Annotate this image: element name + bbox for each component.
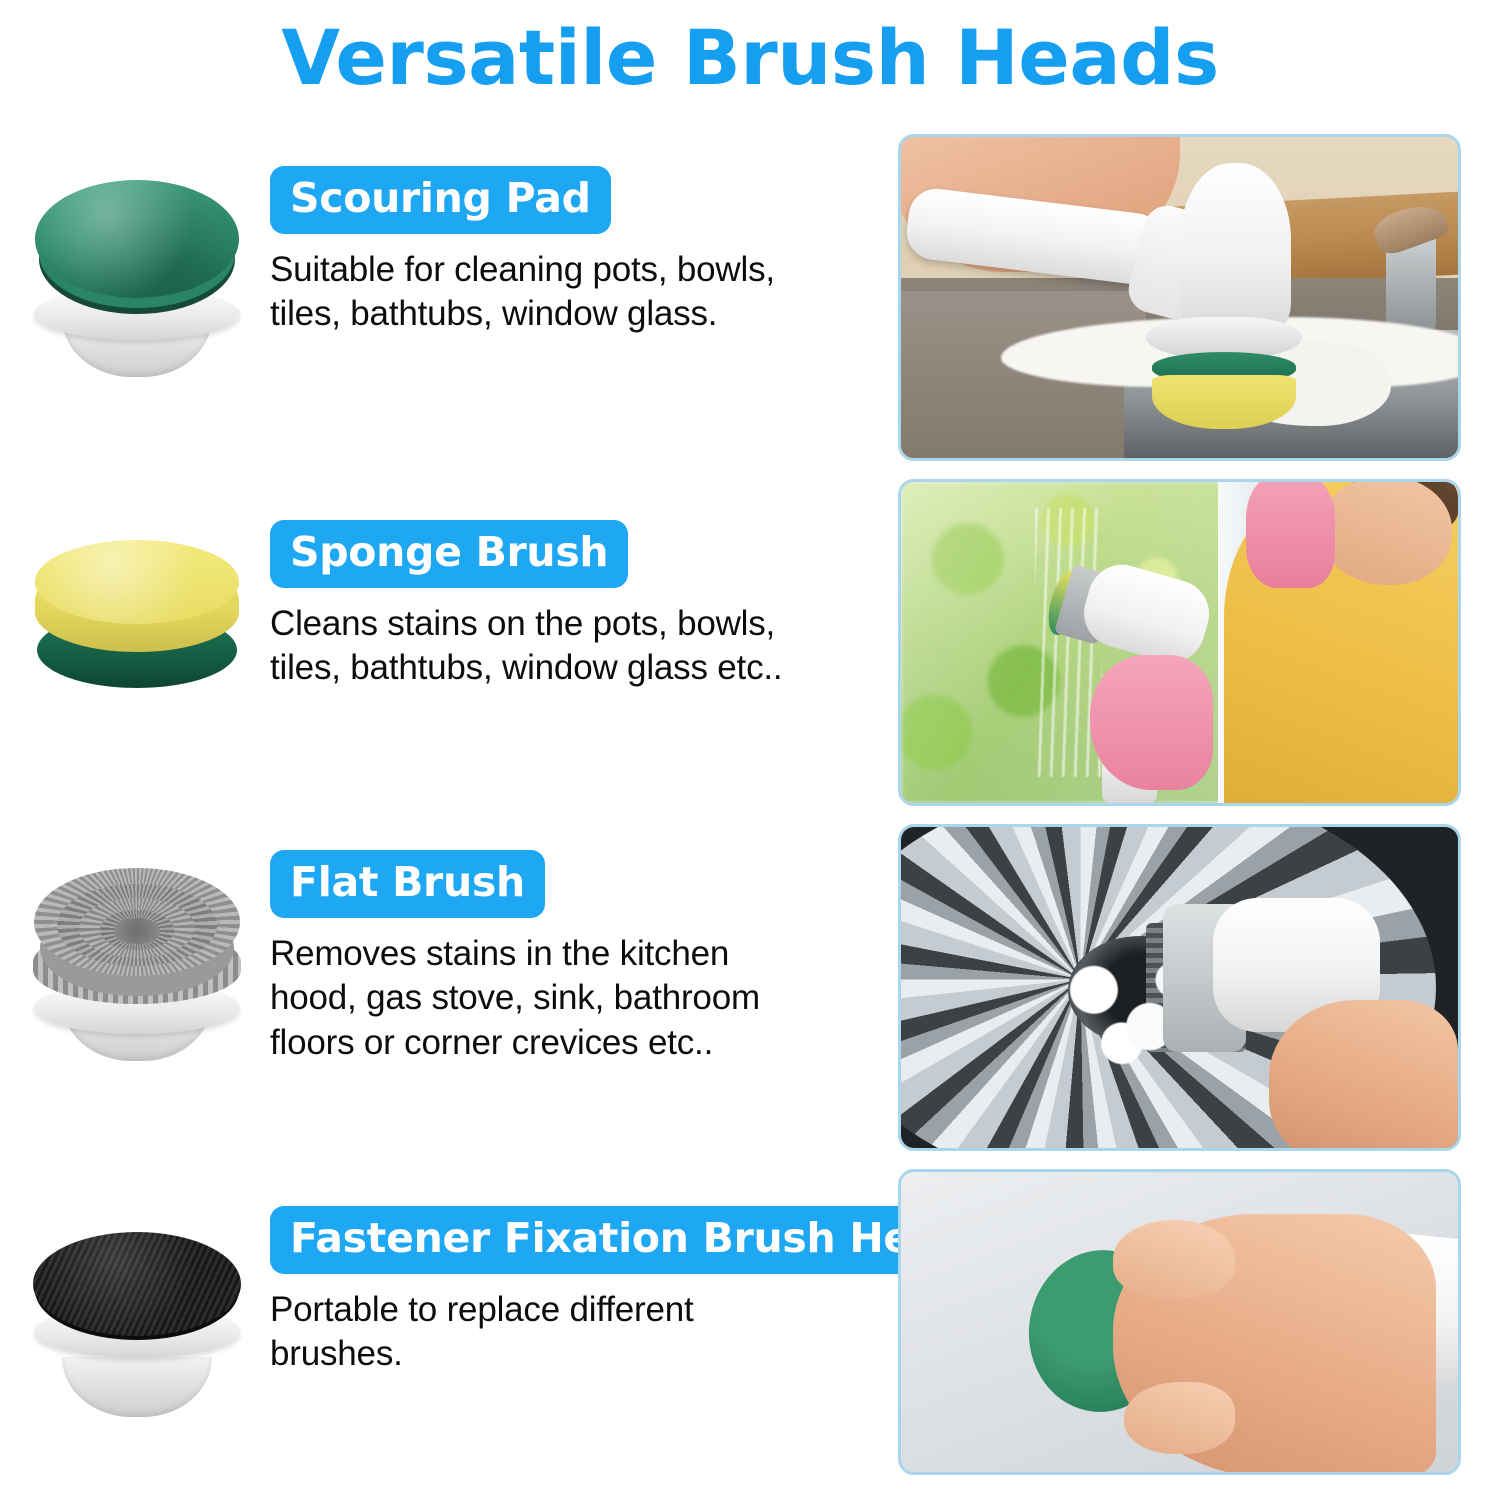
hand [1269,1000,1458,1151]
yellow-green-sponge-brush-head [22,524,252,739]
pad-surface [35,180,239,298]
gray-bristle-flat-brush-head [22,854,252,1069]
sponge-yellow-surface [35,540,239,624]
pink-glove-upper [1246,479,1335,588]
scrubber-head-housing [1180,163,1291,330]
feature-text: Scouring Pad Suitable for cleaning pots,… [270,160,885,337]
photo-scene [901,827,1458,1148]
feature-thumbnail-fastener-head [0,1200,270,1430]
feature-badge-scouring-pad: Scouring Pad [270,166,611,234]
feature-text: Flat Brush Removes stains in the kitchen… [270,844,885,1065]
velcro-surface [33,1232,241,1336]
brush-base [62,1357,212,1417]
feature-badge-fastener-head: Fastener Fixation Brush Head [270,1206,987,1274]
photo-scene [901,137,1458,458]
black-velcro-fastener-brush-head [22,1210,252,1425]
photo-scene [901,482,1458,803]
feature-row: Scouring Pad Suitable for cleaning pots,… [0,160,885,410]
feature-thumbnail-scouring-pad [0,160,270,390]
bristle-core [114,918,160,944]
feature-description-flat-brush: Removes stains in the kitchen hood, gas … [270,932,880,1065]
feature-row: Fastener Fixation Brush Head Portable to… [0,1200,885,1450]
finger [1124,1382,1235,1454]
feature-badge-sponge-brush: Sponge Brush [270,520,628,588]
feature-badge-flat-brush: Flat Brush [270,850,545,918]
feature-description-fastener-head: Portable to replace different brushes. [270,1288,880,1377]
page-title: Versatile Brush Heads [0,18,1500,98]
green-scouring-pad-head [22,170,252,385]
feature-row: Flat Brush Removes stains in the kitchen… [0,844,885,1134]
feature-description-sponge-brush: Cleans stains on the pots, bowls, tiles,… [270,602,880,691]
thumb [1113,1220,1236,1298]
feature-thumbnail-sponge-brush [0,514,270,744]
feature-text: Sponge Brush Cleans stains on the pots, … [270,514,885,691]
feature-thumbnail-flat-brush [0,844,270,1074]
feature-text: Fastener Fixation Brush Head Portable to… [270,1200,987,1377]
car-wheel-cleaning-photo [898,824,1461,1151]
window-cleaning-photo [898,479,1461,806]
photo-panel-list [898,134,1458,1469]
face [1319,479,1453,585]
photo-scene [901,1172,1458,1472]
feature-row: Sponge Brush Cleans stains on the pots, … [0,514,885,764]
sink-edge-cleaning-photo [898,134,1461,461]
pink-glove-lower [1090,655,1213,790]
feature-list: Scouring Pad Suitable for cleaning pots,… [0,132,885,1480]
feature-description-scouring-pad: Suitable for cleaning pots, bowls, tiles… [270,248,880,337]
pad-attachment-photo [898,1169,1461,1475]
